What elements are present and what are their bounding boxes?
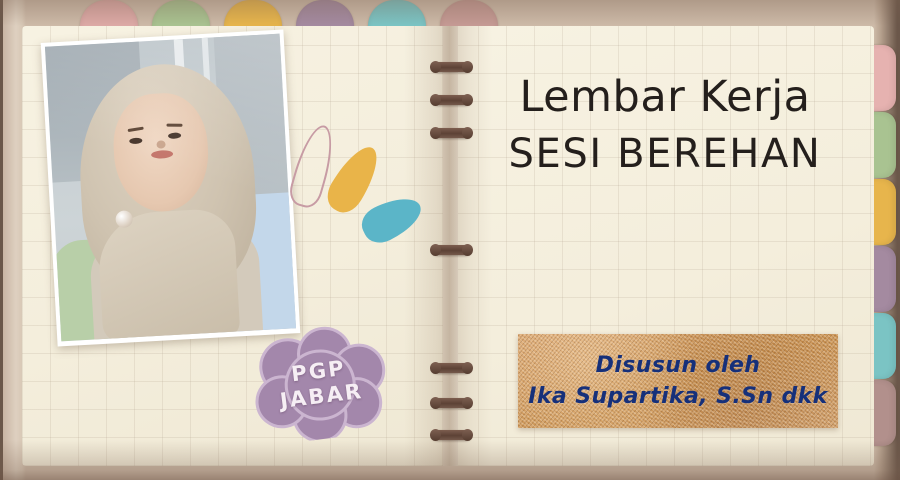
cover-shading-overlay — [0, 0, 900, 480]
notebook-slide: PGP JABAR Lembar Kerja SESI BEREHAN Disu… — [0, 0, 900, 480]
